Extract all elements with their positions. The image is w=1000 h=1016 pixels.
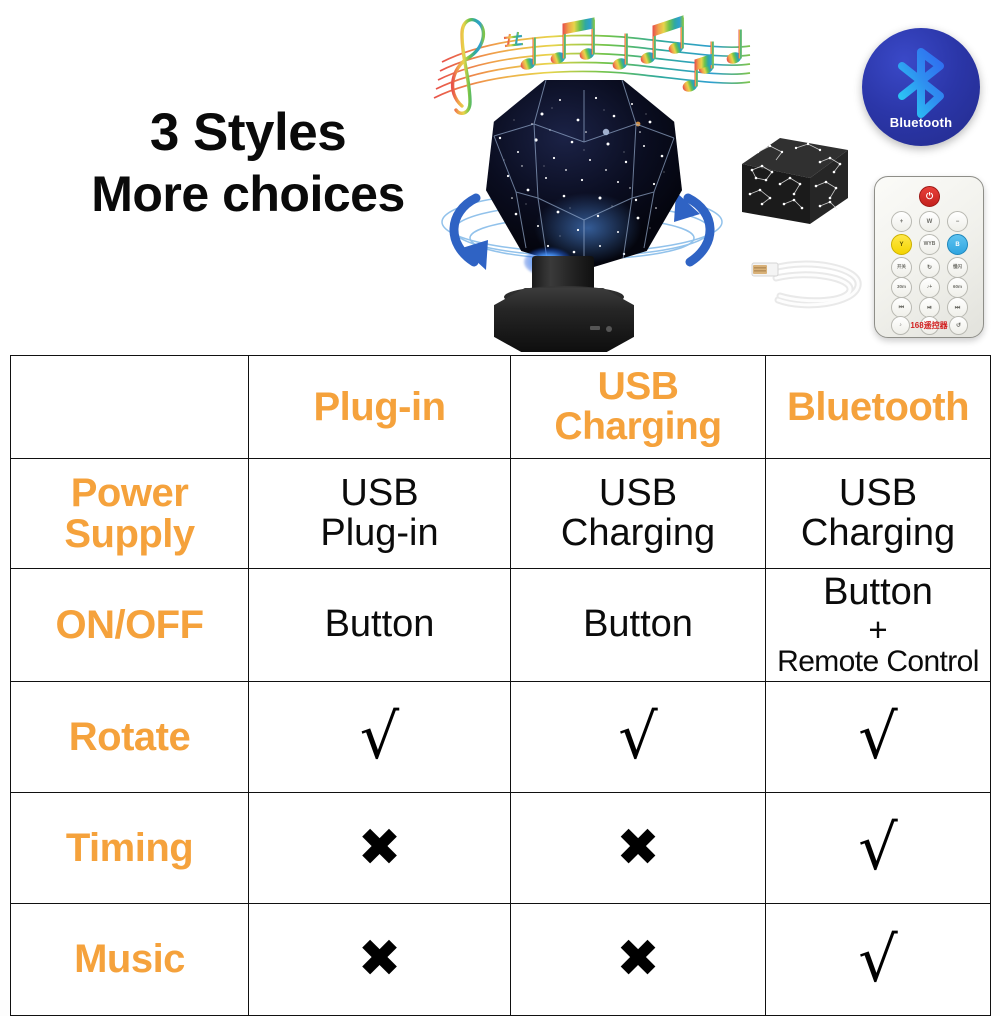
remote-play-pause-button[interactable]: ⏯ — [919, 297, 940, 318]
cell-timing-plug-in: ✖ — [249, 793, 511, 904]
hero-section: 3 Styles More choices — [0, 0, 1000, 352]
row-label-music: Music — [11, 904, 249, 1016]
remote-white-button[interactable]: W — [919, 211, 940, 232]
remote-next-track-button[interactable]: ⏭ — [947, 297, 968, 318]
row-label-on-off: ON/OFF — [11, 569, 249, 682]
remote-power-button[interactable]: ⏻ — [919, 186, 940, 207]
remote-wyb-button[interactable]: WYB — [919, 234, 940, 255]
row-label-power-supply: Power Supply — [11, 459, 249, 569]
remote-timer-60-button[interactable]: 60m — [947, 277, 968, 298]
table-row: Rotate √ √ √ — [11, 682, 991, 793]
column-header-plug-in: Plug-in — [249, 356, 511, 459]
column-header-usb-charging: USB Charging — [511, 356, 766, 459]
remote-brightness-up-button[interactable]: + — [891, 211, 912, 232]
page-title: 3 Styles More choices — [48, 102, 448, 224]
remote-timer-30-button[interactable]: 30m — [891, 277, 912, 298]
cell-on-off-bluetooth: Button + Remote Control — [766, 569, 991, 682]
cell-power-supply-plug-in: USB Plug-in — [249, 459, 511, 569]
cell-power-supply-usb-charging: USB Charging — [511, 459, 766, 569]
table-row: Timing ✖ ✖ √ — [11, 793, 991, 904]
headline-line-1: 3 Styles — [150, 103, 346, 162]
cell-music-bluetooth: √ — [766, 904, 991, 1016]
cell-timing-bluetooth: √ — [766, 793, 991, 904]
remote-switch-button[interactable]: 开关 — [891, 257, 912, 278]
remote-yellow-button[interactable]: Y — [891, 234, 912, 255]
cell-rotate-bluetooth: √ — [766, 682, 991, 793]
table-row: Music ✖ ✖ √ — [11, 904, 991, 1016]
cell-on-off-plug-in: Button — [249, 569, 511, 682]
remote-flash-button[interactable]: 慢闪 — [947, 257, 968, 278]
projector-base — [494, 288, 634, 352]
remote-volume-up-button[interactable]: ♪+ — [919, 277, 940, 298]
cell-music-usb-charging: ✖ — [511, 904, 766, 1016]
headline-line-2: More choices — [48, 165, 448, 224]
remote-brightness-down-button[interactable]: − — [947, 211, 968, 232]
star-projector-lamp — [432, 60, 732, 352]
cell-timing-usb-charging: ✖ — [511, 793, 766, 904]
remote-model-label: 168遥控器 — [875, 320, 983, 331]
remote-previous-track-button[interactable]: ⏮ — [891, 297, 912, 318]
cell-power-supply-bluetooth: USB Charging — [766, 459, 991, 569]
cell-on-off-usb-charging: Button — [511, 569, 766, 682]
row-label-timing: Timing — [11, 793, 249, 904]
feature-comparison-table: Plug-in USB Charging Bluetooth Power Sup… — [10, 355, 991, 1016]
cell-rotate-usb-charging: √ — [511, 682, 766, 793]
row-label-rotate: Rotate — [11, 682, 249, 793]
usb-port — [590, 326, 600, 330]
usb-cable — [744, 246, 876, 322]
bluetooth-badge-label: Bluetooth — [862, 115, 980, 130]
cell-music-plug-in: ✖ — [249, 904, 511, 1016]
remote-blue-button[interactable]: B — [947, 234, 968, 255]
column-header-bluetooth: Bluetooth — [766, 356, 991, 459]
table-corner-cell — [11, 356, 249, 459]
constellation-gift-box — [736, 128, 854, 232]
table-row: ON/OFF Button Button Button + Remote Con… — [11, 569, 991, 682]
cell-rotate-plug-in: √ — [249, 682, 511, 793]
bluetooth-badge: Bluetooth — [862, 28, 980, 146]
product-comparison-page: 3 Styles More choices — [0, 0, 1000, 1000]
table-row: Power Supply USB Plug-in USB Charging US… — [11, 459, 991, 569]
table-header-row: Plug-in USB Charging Bluetooth — [11, 356, 991, 459]
ir-remote-control[interactable]: ⏻ + W − Y WYB B 开关 ↻ 慢闪 30m ♪+ 60m ⏮ ⏯ ⏭… — [874, 176, 984, 338]
remote-rotate-button[interactable]: ↻ — [919, 257, 940, 278]
power-led-port — [606, 326, 612, 332]
